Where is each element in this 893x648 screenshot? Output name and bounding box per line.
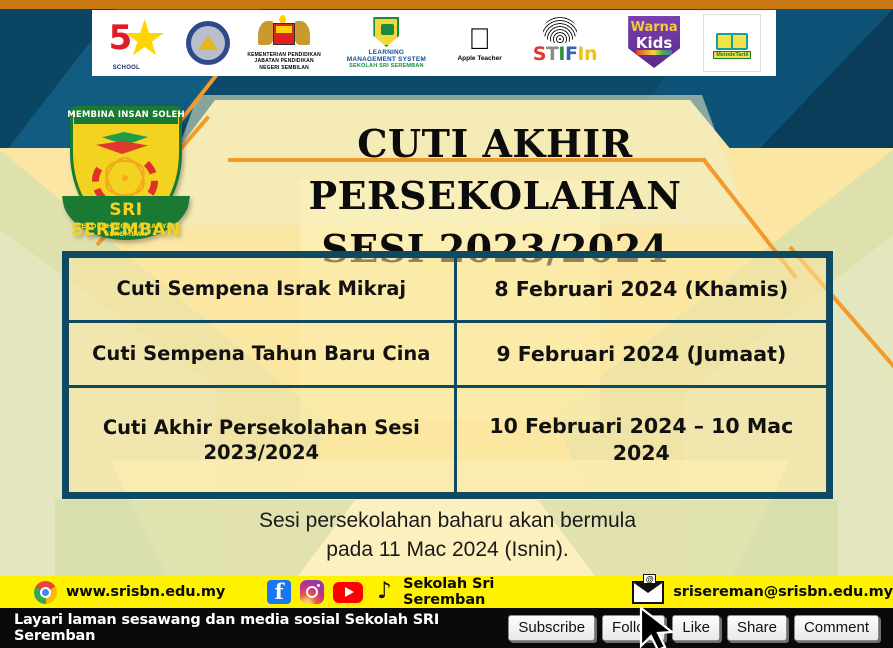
table-cell-date: 8 Februari 2024 (Khamis) xyxy=(455,257,827,322)
comment-button[interactable]: Comment xyxy=(794,615,879,641)
5-star-school-logo: 5 SCHOOL xyxy=(107,15,169,71)
jpn-negeri-sembilan-logo xyxy=(186,10,230,76)
jata-negara-icon xyxy=(258,15,310,51)
mouse-cursor xyxy=(637,606,681,648)
fingerprint-icon xyxy=(543,17,577,43)
social-handle[interactable]: Sekolah Sri Seremban xyxy=(403,576,580,608)
crest-subname-text: SEKOLAH AGAMA RAKYAT SEREMBAN xyxy=(58,222,194,238)
five-digit: 5 xyxy=(109,21,133,55)
note-line-2: pada 11 Mac 2024 (Isnin). xyxy=(150,535,745,564)
learning-management-system-logo: LEARNING MANAGEMENT SYSTEM SEKOLAH SRI S… xyxy=(338,10,434,76)
table-row: Cuti Sempena Israk Mikraj 8 Februari 202… xyxy=(68,257,828,322)
note-line-1: Sesi persekolahan baharu akan bermula xyxy=(150,506,745,535)
website-link[interactable]: www.srisbn.edu.my xyxy=(66,584,225,600)
email-icon[interactable]: @ xyxy=(632,581,664,604)
lms-line3: SEKOLAH SRI SEREMBAN xyxy=(349,63,424,69)
crest-atom-icon xyxy=(106,160,144,196)
session-start-note: Sesi persekolahan baharu akan bermula pa… xyxy=(150,506,745,565)
apple-teacher-caption: Apple Teacher xyxy=(457,55,501,62)
title-line-1: CUTI AKHIR PERSEKOLAHAN xyxy=(195,118,795,223)
lms-line2: MANAGEMENT SYSTEM xyxy=(347,56,426,63)
share-button[interactable]: Share xyxy=(727,615,787,641)
crest-motto-banner: MEMBINA INSAN SOLEH xyxy=(74,106,178,124)
cta-text: Layari laman sesawang dan media sosial S… xyxy=(14,612,508,644)
apple-teacher-logo:  Apple Teacher xyxy=(452,10,508,76)
table-cell-event: Cuti Akhir Persekolahan Sesi 2023/2024 xyxy=(68,387,456,494)
top-amber-strip xyxy=(0,0,893,9)
call-to-action-bar: Layari laman sesawang dan media sosial S… xyxy=(0,608,893,648)
table-cell-event: Cuti Sempena Tahun Baru Cina xyxy=(68,322,456,387)
social-contact-bar: www.srisbn.edu.my f ♪ Sekolah Sri Seremb… xyxy=(0,576,893,608)
stifin-wordmark: STIFIn xyxy=(525,43,605,65)
kpm-caption-line2: JABATAN PENDIDIKAN NEGERI SEMBILAN xyxy=(247,58,321,71)
school-caption: SCHOOL xyxy=(113,65,140,71)
table-cell-date: 10 Februari 2024 – 10 Mac 2024 xyxy=(455,387,827,494)
metode-tartil-caption: MetodeTartil xyxy=(713,51,751,59)
open-book-icon: MetodeTartil xyxy=(713,28,751,58)
email-address[interactable]: srisereman@srisbn.edu.my xyxy=(673,584,893,600)
rainbow-bar xyxy=(636,50,672,55)
chrome-icon[interactable] xyxy=(34,581,57,604)
crest-motto-text: MEMBINA INSAN SOLEH xyxy=(67,110,185,120)
poster-canvas: 5 SCHOOL KEMENTERIAN PENDIDIKAN JABATAN … xyxy=(0,0,893,648)
table-row: Cuti Sempena Tahun Baru Cina 9 Februari … xyxy=(68,322,828,387)
roundel-icon xyxy=(186,21,230,65)
lms-line1: LEARNING xyxy=(369,49,405,56)
instagram-icon[interactable] xyxy=(300,580,324,604)
crest-name-ribbon: SRI SEREMBAN SEKOLAH AGAMA RAKYAT SEREMB… xyxy=(58,194,194,244)
youtube-icon[interactable] xyxy=(333,582,363,603)
kementerian-pendidikan-logo: KEMENTERIAN PENDIDIKAN JABATAN PENDIDIKA… xyxy=(247,10,321,76)
stifin-logo: STIFIn xyxy=(525,15,605,71)
partner-logo-bar: 5 SCHOOL KEMENTERIAN PENDIDIKAN JABATAN … xyxy=(92,10,776,76)
tiktok-icon[interactable]: ♪ xyxy=(372,580,394,604)
table-row: Cuti Akhir Persekolahan Sesi 2023/2024 1… xyxy=(68,387,828,494)
facebook-icon[interactable]: f xyxy=(267,580,291,604)
table-cell-date: 9 Februari 2024 (Jumaat) xyxy=(455,322,827,387)
warna-word: Warna xyxy=(630,20,678,35)
table-cell-event: Cuti Sempena Israk Mikraj xyxy=(68,257,456,322)
warna-kids-logo: Warna Kids xyxy=(622,14,686,72)
apple-icon:  xyxy=(468,25,491,55)
crest-book-icon xyxy=(96,132,154,152)
lms-shield-icon xyxy=(373,17,399,47)
social-action-buttons: Subscribe Follow Like Share Comment xyxy=(508,615,879,641)
metode-tartil-logo: MetodeTartil xyxy=(703,14,761,72)
holiday-schedule-table: Cuti Sempena Israk Mikraj 8 Februari 202… xyxy=(62,251,833,499)
subscribe-button[interactable]: Subscribe xyxy=(508,615,595,641)
school-crest: MEMBINA INSAN SOLEH SRI SEREMBAN SEKOLAH… xyxy=(58,98,194,246)
